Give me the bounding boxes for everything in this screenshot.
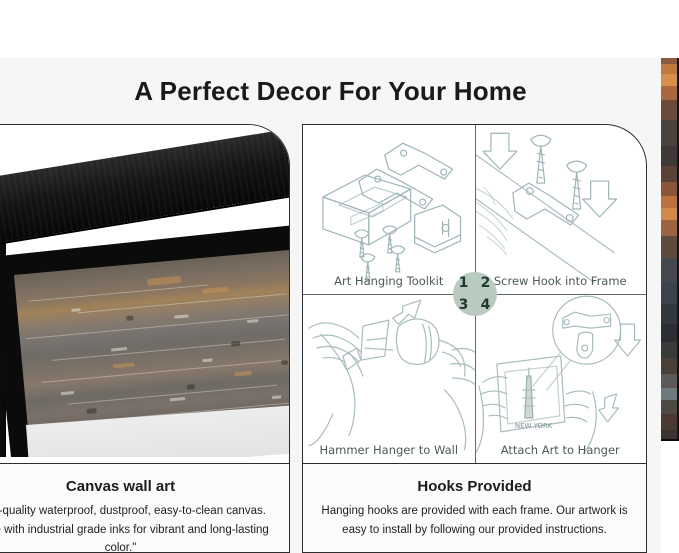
top-white-gutter [0,0,679,58]
badge-number-2: 2 [475,272,497,294]
step-number-badge: 1 2 3 4 [453,272,497,316]
canvas-caption-body: High-quality waterproof, dustproof, easy… [0,502,275,553]
hooks-caption: Hooks Provided Hanging hooks are provide… [303,463,646,553]
hooks-caption-body: Hanging hooks are provided with each fra… [317,502,632,539]
step-label-1: Art Hanging Toolkit [303,274,475,288]
hooks-provided-card: Art Hanging Toolkit [302,124,647,553]
page-title: A Perfect Decor For Your Home [0,58,661,124]
step-panel-screw-hook: Screw Hook into Frame [475,125,647,294]
hooks-caption-title: Hooks Provided [317,478,632,495]
step-panel-hammer: Hammer Hanger to Wall [303,294,475,463]
canvas-wall-art-card: Canvas wall art High-quality waterproof,… [0,124,290,553]
svg-text:NEW YORK: NEW YORK [514,422,552,430]
attach-art-illustration: NEW YORK [475,294,647,463]
step-label-4: Attach Art to Hanger [475,443,647,457]
product-photo [0,125,289,463]
canvas-caption: Canvas wall art High-quality waterproof,… [0,463,289,553]
badge-number-3: 3 [453,294,475,316]
badge-number-4: 4 [475,294,497,316]
step-panel-toolkit: Art Hanging Toolkit [303,125,475,294]
badge-number-1: 1 [453,272,475,294]
step-label-2: Screw Hook into Frame [475,274,647,288]
toolkit-illustration [303,125,475,294]
hammer-hanger-illustration [303,294,475,463]
screw-hook-illustration [475,125,647,294]
step-panel-attach-art: NEW YORK Attach Art to Hanger [475,294,647,463]
step-label-3: Hammer Hanger to Wall [303,443,475,457]
instruction-grid: Art Hanging Toolkit [303,125,646,463]
canvas-caption-title: Canvas wall art [0,478,275,495]
